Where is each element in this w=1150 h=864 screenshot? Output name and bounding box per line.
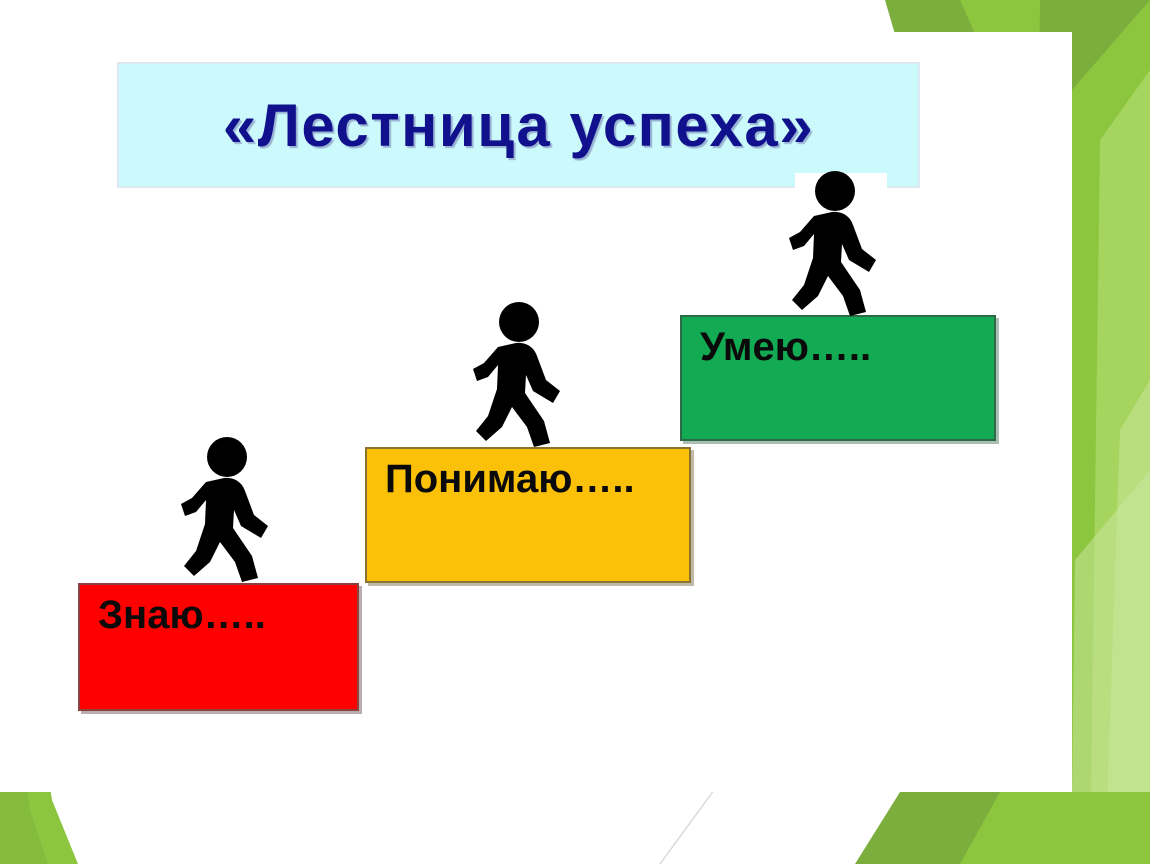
step-understand-label: Понимаю….. [385, 457, 635, 502]
bottom-right-wedge-2 [960, 792, 1150, 864]
right-green-band-light [1090, 70, 1150, 864]
walking-person-icon [178, 436, 278, 584]
page-title: «Лестница успеха» [223, 91, 814, 160]
step-know[interactable]: Знаю….. [78, 583, 359, 711]
walking-person-icon [786, 170, 886, 318]
step-can-do[interactable]: Умею….. [680, 315, 996, 441]
step-understand[interactable]: Понимаю….. [365, 447, 691, 583]
slide-canvas: «Лестница успеха» Умею….. Понимаю….. Зна… [0, 0, 1150, 864]
step-know-label: Знаю….. [98, 593, 266, 638]
right-green-band-inner [1072, 470, 1150, 820]
walking-person-icon [470, 301, 570, 449]
right-green-band-pale [1105, 380, 1150, 864]
right-green-band-mid [1060, 0, 1150, 864]
step-can-do-label: Умею….. [700, 325, 871, 370]
bottom-right-wedge [855, 792, 1072, 864]
